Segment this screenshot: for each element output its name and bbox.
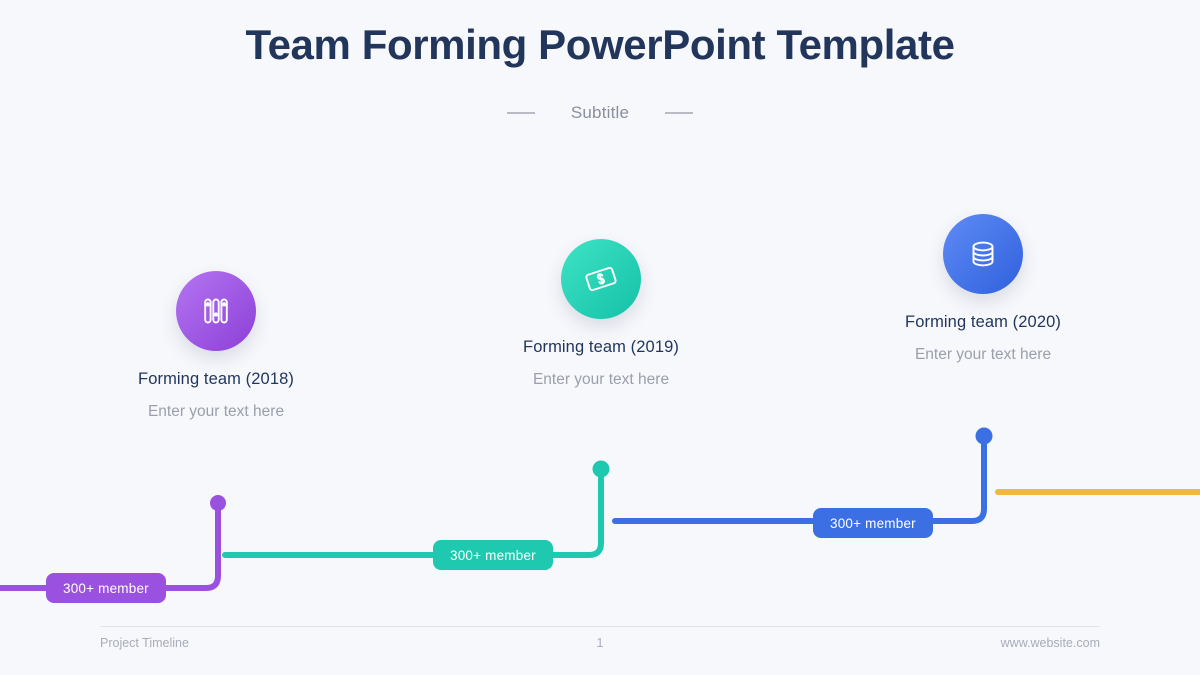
timeline-dot-purple — [210, 495, 226, 511]
footer-label: Project Timeline — [100, 636, 433, 650]
footer-divider — [100, 626, 1100, 627]
page-number: 1 — [433, 636, 766, 650]
timeline-dot-teal — [593, 461, 610, 478]
money-bill-icon — [582, 260, 620, 298]
subtitle-dash-right — [665, 112, 693, 114]
footer-website[interactable]: www.website.com — [767, 636, 1100, 650]
milestone-2018[interactable]: Forming team (2018) Enter your text here — [66, 271, 366, 421]
badge-members-2020[interactable]: 300+ member — [813, 508, 933, 538]
subtitle-row: Subtitle — [0, 103, 1200, 123]
milestone-2019[interactable]: Forming team (2019) Enter your text here — [451, 239, 751, 389]
subtitle-dash-left — [507, 112, 535, 114]
milestone-2-subtitle: Enter your text here — [451, 371, 751, 389]
page-title: Team Forming PowerPoint Template — [0, 22, 1200, 68]
footer: Project Timeline 1 www.website.com — [100, 636, 1100, 650]
badge-members-2019[interactable]: 300+ member — [433, 540, 553, 570]
milestone-3-icon-circle[interactable] — [943, 214, 1023, 294]
slide-canvas: Team Forming PowerPoint Template Subtitl… — [0, 0, 1200, 675]
milestone-2-title: Forming team (2019) — [451, 338, 751, 357]
sliders-icon — [198, 293, 234, 329]
timeline-dot-blue — [976, 428, 993, 445]
database-icon — [966, 237, 1000, 271]
milestone-1-icon-circle[interactable] — [176, 271, 256, 351]
milestone-2020[interactable]: Forming team (2020) Enter your text here — [833, 214, 1133, 364]
subtitle-text: Subtitle — [571, 103, 629, 123]
milestone-3-subtitle: Enter your text here — [833, 346, 1133, 364]
milestone-1-title: Forming team (2018) — [66, 370, 366, 389]
milestone-1-subtitle: Enter your text here — [66, 403, 366, 421]
badge-members-2018[interactable]: 300+ member — [46, 573, 166, 603]
milestone-2-icon-circle[interactable] — [561, 239, 641, 319]
milestone-3-title: Forming team (2020) — [833, 313, 1133, 332]
